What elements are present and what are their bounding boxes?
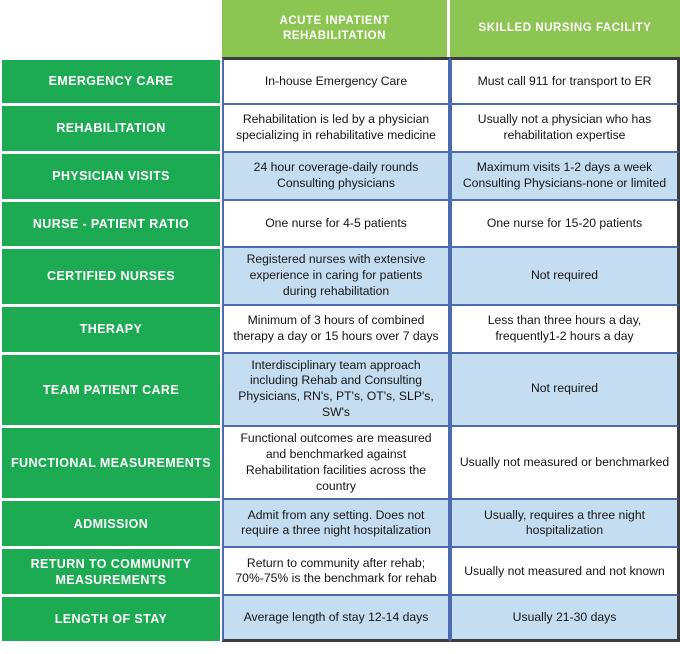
cell-skilled-nursing-facility: Usually not measured or benchmarked bbox=[450, 426, 680, 499]
cell-skilled-nursing-facility: Usually not a physician who has rehabili… bbox=[450, 104, 680, 152]
table-row: ADMISSIONAdmit from any setting. Does no… bbox=[0, 499, 680, 547]
comparison-table: ACUTE INPATIENT REHABILITATION SKILLED N… bbox=[0, 0, 680, 642]
cell-acute-inpatient-rehabilitation: 24 hour coverage-daily rounds Consulting… bbox=[222, 152, 450, 200]
cell-skilled-nursing-facility: Usually 21-30 days bbox=[450, 595, 680, 642]
cell-acute-inpatient-rehabilitation: Admit from any setting. Does not require… bbox=[222, 499, 450, 547]
cell-skilled-nursing-facility: One nurse for 15-20 patients bbox=[450, 200, 680, 247]
header-row: ACUTE INPATIENT REHABILITATION SKILLED N… bbox=[0, 0, 680, 57]
cell-acute-inpatient-rehabilitation: Return to community after rehab; 70%-75%… bbox=[222, 547, 450, 595]
table-row: CERTIFIED NURSESRegistered nurses with e… bbox=[0, 247, 680, 305]
table-row: REHABILITATIONRehabilitation is led by a… bbox=[0, 104, 680, 152]
cell-skilled-nursing-facility: Less than three hours a day, frequently1… bbox=[450, 305, 680, 353]
cell-acute-inpatient-rehabilitation: In-house Emergency Care bbox=[222, 57, 450, 104]
row-label-cell: REHABILITATION bbox=[0, 104, 222, 152]
row-label-cell: TEAM PATIENT CARE bbox=[0, 353, 222, 426]
cell-skilled-nursing-facility: Usually, requires a three night hospital… bbox=[450, 499, 680, 547]
row-label-cell: EMERGENCY CARE bbox=[0, 57, 222, 104]
row-label-cell: FUNCTIONAL MEASUREMENTS bbox=[0, 426, 222, 499]
cell-skilled-nursing-facility: Usually not measured and not known bbox=[450, 547, 680, 595]
cell-acute-inpatient-rehabilitation: Registered nurses with extensive experie… bbox=[222, 247, 450, 305]
table-row: EMERGENCY CAREIn-house Emergency CareMus… bbox=[0, 57, 680, 104]
table-row: THERAPYMinimum of 3 hours of combined th… bbox=[0, 305, 680, 353]
table-row: LENGTH OF STAYAverage length of stay 12-… bbox=[0, 595, 680, 642]
table-row: TEAM PATIENT CAREInterdisciplinary team … bbox=[0, 353, 680, 426]
cell-acute-inpatient-rehabilitation: Functional outcomes are measured and ben… bbox=[222, 426, 450, 499]
row-label-cell: NURSE - PATIENT RATIO bbox=[0, 200, 222, 247]
table-row: RETURN TO COMMUNITY MEASUREMENTSReturn t… bbox=[0, 547, 680, 595]
table-row: FUNCTIONAL MEASUREMENTSFunctional outcom… bbox=[0, 426, 680, 499]
cell-acute-inpatient-rehabilitation: Average length of stay 12-14 days bbox=[222, 595, 450, 642]
cell-skilled-nursing-facility: Not required bbox=[450, 247, 680, 305]
table-body: EMERGENCY CAREIn-house Emergency CareMus… bbox=[0, 57, 680, 642]
cell-skilled-nursing-facility: Not required bbox=[450, 353, 680, 426]
header-cell-acute-inpatient-rehabilitation: ACUTE INPATIENT REHABILITATION bbox=[222, 0, 450, 57]
row-label-cell: PHYSICIAN VISITS bbox=[0, 152, 222, 200]
cell-skilled-nursing-facility: Maximum visits 1-2 days a week Consultin… bbox=[450, 152, 680, 200]
table-row: PHYSICIAN VISITS24 hour coverage-daily r… bbox=[0, 152, 680, 200]
row-label-cell: THERAPY bbox=[0, 305, 222, 353]
row-label-cell: LENGTH OF STAY bbox=[0, 595, 222, 642]
row-label-cell: CERTIFIED NURSES bbox=[0, 247, 222, 305]
row-label-cell: RETURN TO COMMUNITY MEASUREMENTS bbox=[0, 547, 222, 595]
cell-skilled-nursing-facility: Must call 911 for transport to ER bbox=[450, 57, 680, 104]
comparison-table-container: ACUTE INPATIENT REHABILITATION SKILLED N… bbox=[0, 0, 680, 654]
cell-acute-inpatient-rehabilitation: Interdisciplinary team approach includin… bbox=[222, 353, 450, 426]
table-row: NURSE - PATIENT RATIOOne nurse for 4-5 p… bbox=[0, 200, 680, 247]
cell-acute-inpatient-rehabilitation: Minimum of 3 hours of combined therapy a… bbox=[222, 305, 450, 353]
table-header: ACUTE INPATIENT REHABILITATION SKILLED N… bbox=[0, 0, 680, 57]
row-label-cell: ADMISSION bbox=[0, 499, 222, 547]
header-corner-cell bbox=[0, 0, 222, 57]
cell-acute-inpatient-rehabilitation: One nurse for 4-5 patients bbox=[222, 200, 450, 247]
cell-acute-inpatient-rehabilitation: Rehabilitation is led by a physician spe… bbox=[222, 104, 450, 152]
header-cell-skilled-nursing-facility: SKILLED NURSING FACILITY bbox=[450, 0, 680, 57]
